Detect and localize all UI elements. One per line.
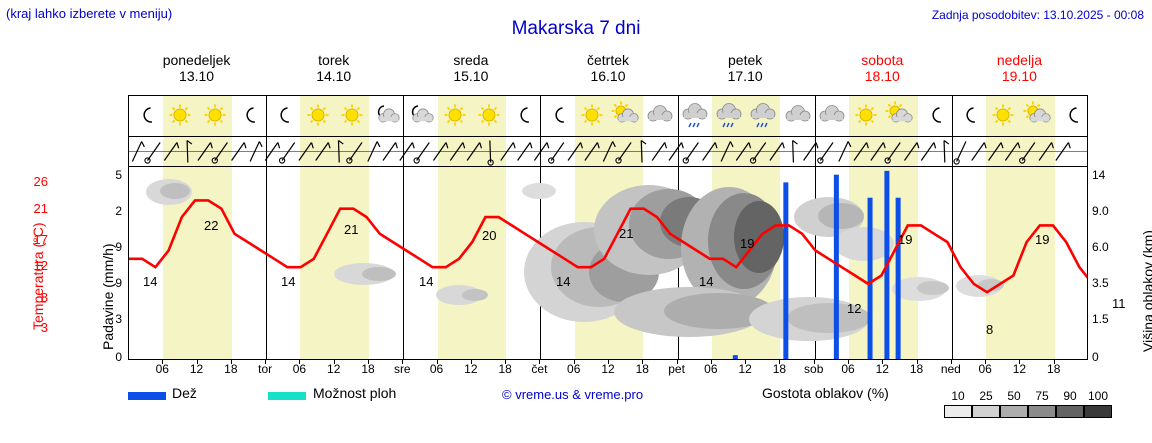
cloud-density-blob [818, 203, 864, 229]
temperature-annotation: 19 [740, 236, 754, 251]
day-name: petek [677, 52, 814, 68]
cloud-density-swatch [972, 405, 1000, 418]
precipitation-tick: 2 [92, 204, 122, 218]
cloud-density-swatch [1056, 405, 1084, 418]
moon-icon [920, 101, 950, 131]
sun-icon [988, 101, 1018, 131]
temperature-tick: 3 [18, 320, 48, 335]
wind-barb-band [128, 137, 1088, 166]
legend-rain-swatch [128, 392, 166, 400]
day-name: ponedeljek [128, 52, 265, 68]
sun-cloud-icon [1023, 101, 1053, 131]
weather-icon-cell [268, 101, 298, 131]
x-axis-tick-mark [197, 360, 198, 364]
x-axis-tick-mark [711, 360, 712, 364]
day-separator [266, 96, 267, 136]
day-date: 16.10 [539, 68, 676, 84]
temperature-annotation: 14 [143, 274, 157, 289]
rain-bar [896, 198, 901, 359]
temperature-tick: 21 [18, 201, 48, 216]
x-axis-tick-mark [162, 360, 163, 364]
x-axis-tick-mark [848, 360, 849, 364]
x-axis-tick-mark [471, 360, 472, 364]
weather-icon-cell [405, 101, 435, 131]
day-header: ponedeljek13.10 [128, 52, 265, 84]
day-header: nedelja19.10 [951, 52, 1088, 84]
weather-icon-cell [337, 101, 367, 131]
temperature-tick: 26 [18, 174, 48, 189]
last-update-label: Zadnja posodobitev: 13.10.2025 - 00:08 [932, 8, 1144, 22]
moon-icon [1057, 101, 1087, 131]
rain-bar [783, 182, 788, 359]
temperature-annotation: 19 [898, 232, 912, 247]
precipitation-tick: 9 [92, 276, 122, 290]
weather-icon-cell [1057, 101, 1087, 131]
cloud-density-tick: 90 [1056, 389, 1084, 403]
weather-icon-cell [817, 101, 847, 131]
weather-icon-cell [885, 101, 915, 131]
day-header: sobota18.10 [814, 52, 951, 84]
forecast-chart [128, 166, 1088, 360]
x-axis-tick-mark [814, 360, 815, 364]
weather-icon-cell [1023, 101, 1053, 131]
cloud-density-tick: 25 [972, 389, 1000, 403]
precipitation-tick: 5 [92, 168, 122, 182]
x-axis-tick-mark [642, 360, 643, 364]
moon-icon [508, 101, 538, 131]
sun-icon [337, 101, 367, 131]
temperature-annotation: 14 [556, 274, 570, 289]
sun-cloud-icon [885, 101, 915, 131]
sun-icon [165, 101, 195, 131]
temperature-tick: 17 [18, 232, 48, 247]
x-axis-tick-mark [917, 360, 918, 364]
temperature-annotation: 11 [1112, 296, 1126, 311]
cloud-height-tick: 9.0 [1092, 204, 1122, 218]
temperature-annotation: 14 [419, 274, 433, 289]
cloud-density-blob [917, 281, 949, 295]
day-separator [403, 96, 404, 136]
x-axis-tick-mark [574, 360, 575, 364]
x-axis-tick-mark [505, 360, 506, 364]
day-name: sreda [402, 52, 539, 68]
cloud-density-blob [522, 183, 556, 199]
temperature-annotation: 21 [344, 222, 358, 237]
weather-icon-cell [577, 101, 607, 131]
temperature-annotation: 21 [619, 226, 633, 241]
cloud-rain-icon [714, 101, 744, 131]
weather-icon-cell [988, 101, 1018, 131]
x-axis-tick-mark [1019, 360, 1020, 364]
temperature-annotation: 14 [699, 274, 713, 289]
weather-icon-cell [680, 101, 710, 131]
cloud-density-swatch [1000, 405, 1028, 418]
temperature-annotation: 20 [482, 228, 496, 243]
weather-icon-cell [508, 101, 538, 131]
cloud-density-blob [160, 183, 190, 199]
weather-icon-cell [783, 101, 813, 131]
x-axis-tick-mark [985, 360, 986, 364]
weather-icon-cell [440, 101, 470, 131]
day-header: sreda15.10 [402, 52, 539, 84]
cloud-height-tick: 1.5 [1092, 312, 1122, 326]
cloud-height-tick: 3.5 [1092, 276, 1122, 290]
temperature-annotation: 22 [204, 218, 218, 233]
x-axis-tick-mark [608, 360, 609, 364]
x-axis-tick-mark [402, 360, 403, 364]
cloud-density-tick: 10 [944, 389, 972, 403]
cloud-height-tick: 14 [1092, 168, 1122, 182]
cloud-density-tick: 75 [1028, 389, 1056, 403]
day-separator [952, 96, 953, 136]
weather-icon-cell [371, 101, 401, 131]
moon-cloud-icon [371, 101, 401, 131]
x-axis-tick: 18 [1034, 362, 1074, 376]
moon-icon [543, 101, 573, 131]
day-name: nedelja [951, 52, 1088, 68]
cloud-icon [783, 101, 813, 131]
day-date: 14.10 [265, 68, 402, 84]
axis-title-cloud-height: Višina oblakov (km) [1140, 230, 1152, 352]
cloud-icon [645, 101, 675, 131]
day-header: torek14.10 [265, 52, 402, 84]
moon-icon [234, 101, 264, 131]
x-axis-tick-mark [437, 360, 438, 364]
weather-icon-cell [131, 101, 161, 131]
x-axis-tick-mark [368, 360, 369, 364]
sun-icon [200, 101, 230, 131]
weather-icon-cell [165, 101, 195, 131]
weather-icon-cell [611, 101, 641, 131]
temperature-tick: 8 [18, 290, 48, 305]
day-name: sobota [814, 52, 951, 68]
weather-icon-cell [748, 101, 778, 131]
temperature-annotation: 19 [1035, 232, 1049, 247]
sun-icon [851, 101, 881, 131]
temperature-annotation: 12 [847, 301, 861, 316]
legend-showers-swatch [268, 392, 306, 400]
day-date: 15.10 [402, 68, 539, 84]
cloud-height-tick: 0 [1092, 350, 1122, 364]
cloud-density-swatch [944, 405, 972, 418]
cloud-density-tick: 50 [1000, 389, 1028, 403]
wind-barbs [129, 137, 1087, 166]
weather-icon-cell [954, 101, 984, 131]
cloud-density-blob [462, 289, 488, 301]
precipitation-tick: 3 [92, 312, 122, 326]
weather-icon-cell [303, 101, 333, 131]
moon-icon [131, 101, 161, 131]
rain-bar [733, 355, 738, 359]
x-axis-tick-mark [539, 360, 540, 364]
day-name: torek [265, 52, 402, 68]
rain-bar [834, 175, 839, 359]
cloud-density-tick: 100 [1084, 389, 1112, 403]
x-axis-tick-mark [779, 360, 780, 364]
sun-icon [474, 101, 504, 131]
x-axis-tick-mark [745, 360, 746, 364]
sun-icon [440, 101, 470, 131]
x-axis-tick-mark [265, 360, 266, 364]
day-date: 19.10 [951, 68, 1088, 84]
weather-icon-cell [234, 101, 264, 131]
cloud-density-blob [362, 267, 396, 281]
weather-icon-cell [200, 101, 230, 131]
day-date: 17.10 [677, 68, 814, 84]
weather-icon-band [128, 95, 1088, 137]
cloud-density-title: Gostota oblakov (%) [762, 385, 889, 401]
weather-icon-cell [714, 101, 744, 131]
weather-icon-cell [851, 101, 881, 131]
chart-canvas [129, 167, 1087, 359]
day-header: četrtek16.10 [539, 52, 676, 84]
axis-title-precipitation: Padavine (mm/h) [100, 243, 116, 350]
cloud-rain-icon [748, 101, 778, 131]
x-axis-tick-mark [334, 360, 335, 364]
day-separator [815, 96, 816, 136]
legend-showers-label: Možnost ploh [313, 385, 396, 401]
day-header: petek17.10 [677, 52, 814, 84]
cloud-density-swatch [1028, 405, 1056, 418]
temperature-annotation: 8 [986, 322, 993, 337]
precipitation-tick: 0 [92, 350, 122, 364]
credit-link[interactable]: © vreme.us & vreme.pro [502, 387, 643, 402]
x-axis-tick-mark [299, 360, 300, 364]
weather-icon-cell [474, 101, 504, 131]
cloud-density-swatch [1084, 405, 1112, 418]
temperature-tick: 12 [18, 258, 48, 273]
x-axis-tick-mark [882, 360, 883, 364]
day-separator [540, 96, 541, 136]
day-date: 18.10 [814, 68, 951, 84]
x-axis-tick-mark [1054, 360, 1055, 364]
cloud-rain-icon [680, 101, 710, 131]
cloud-icon [817, 101, 847, 131]
moon-cloud-icon [405, 101, 435, 131]
sun-cloud-icon [611, 101, 641, 131]
precipitation-tick: 9 [92, 240, 122, 254]
x-axis-tick-mark [951, 360, 952, 364]
sun-icon [577, 101, 607, 131]
x-axis-tick-mark [231, 360, 232, 364]
temperature-annotation: 14 [281, 274, 295, 289]
legend-rain-label: Dež [172, 385, 197, 401]
rain-bar [868, 198, 873, 359]
x-axis-tick-mark [677, 360, 678, 364]
weather-icon-cell [645, 101, 675, 131]
moon-icon [954, 101, 984, 131]
day-date: 13.10 [128, 68, 265, 84]
sun-icon [303, 101, 333, 131]
moon-icon [268, 101, 298, 131]
cloud-height-tick: 6.0 [1092, 240, 1122, 254]
day-separator [678, 96, 679, 136]
day-name: četrtek [539, 52, 676, 68]
weather-icon-cell [543, 101, 573, 131]
weather-icon-cell [920, 101, 950, 131]
